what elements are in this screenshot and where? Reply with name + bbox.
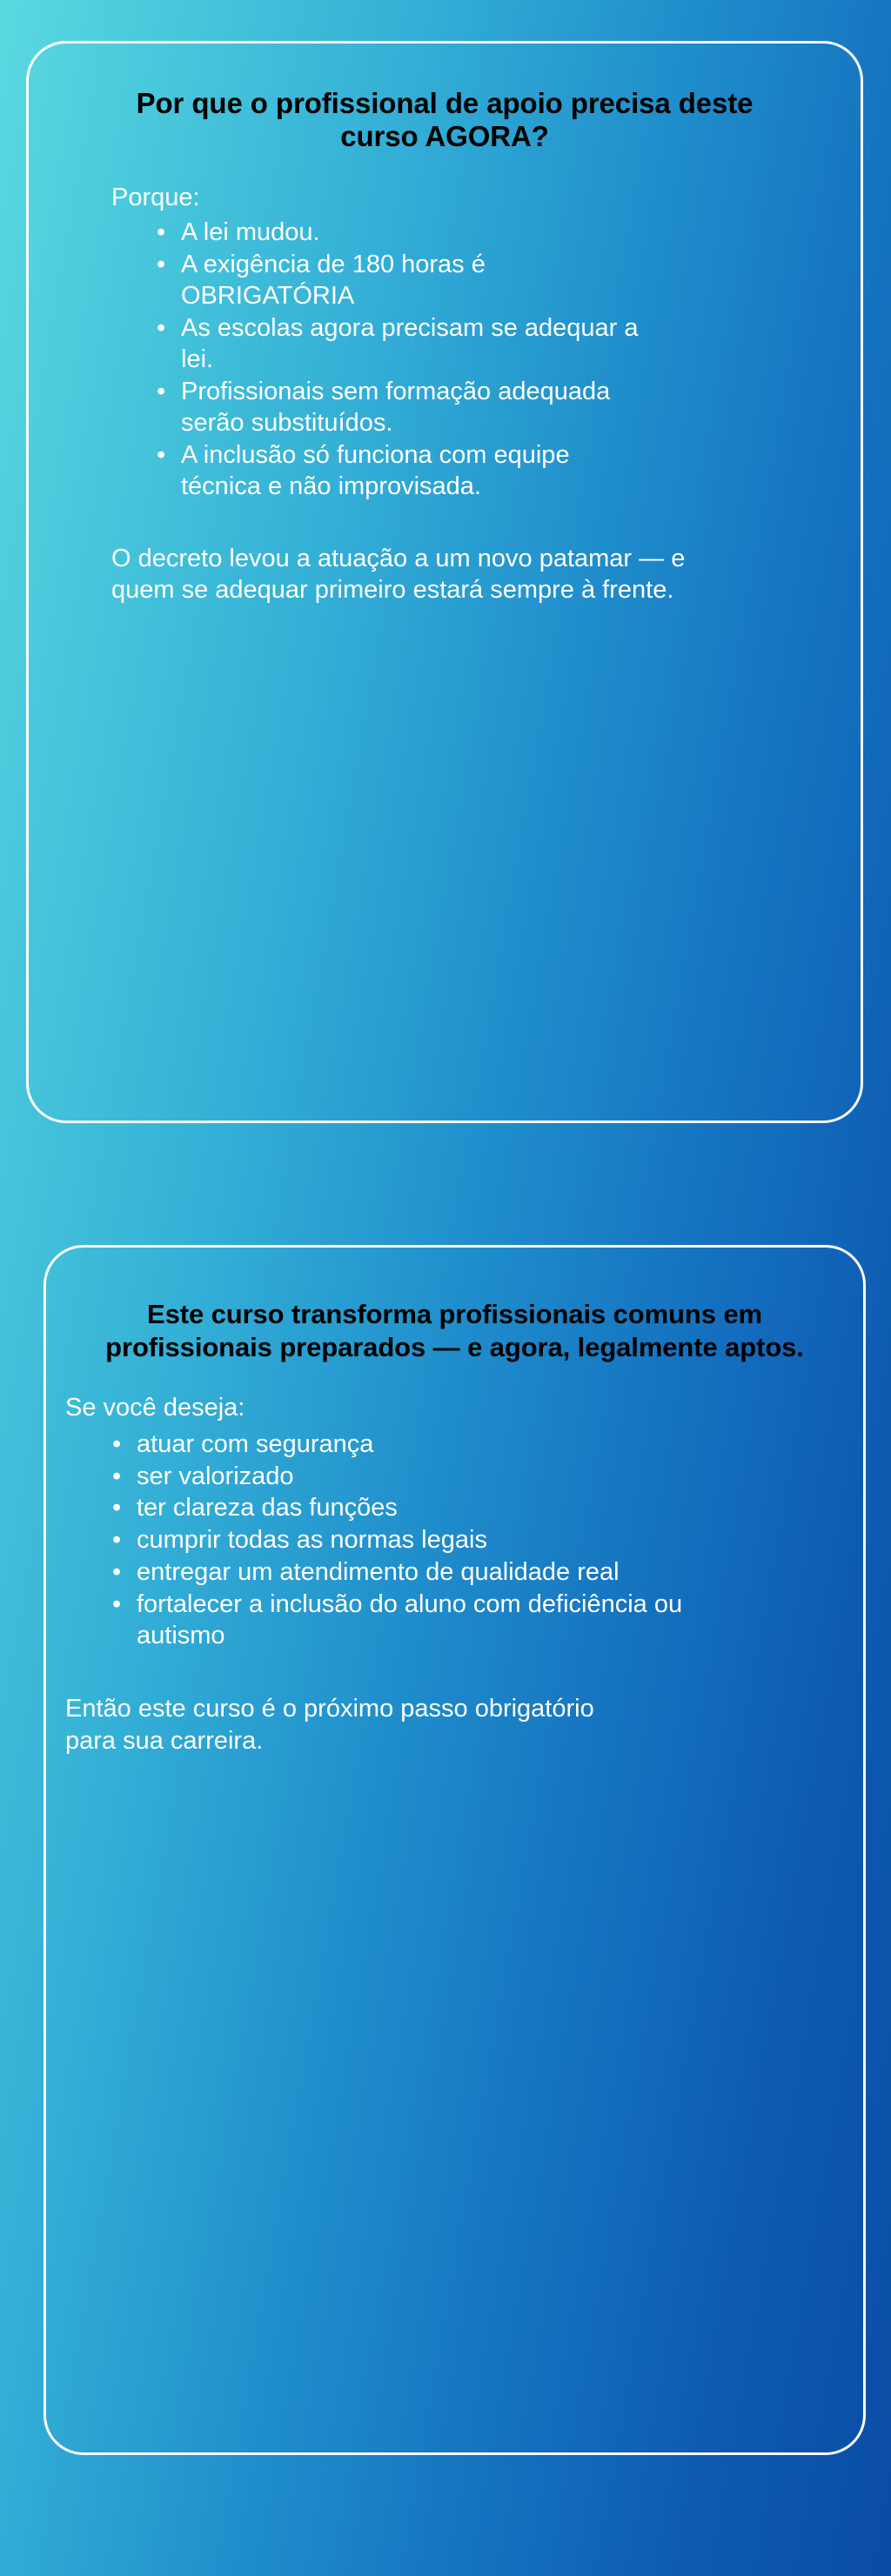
bullet-icon: • <box>112 1493 121 1524</box>
bullet-icon: • <box>112 1557 121 1589</box>
list-item: • As escolas agora precisam se adequar a… <box>153 313 640 376</box>
bullet-icon: • <box>112 1589 121 1621</box>
bullet-icon: • <box>112 1462 121 1493</box>
list-item: • A inclusão só funciona com equipe técn… <box>153 440 640 503</box>
bullet-icon: • <box>157 217 165 249</box>
bullet-icon: • <box>157 440 165 472</box>
list-item: • entregar um atendimento de qualidade r… <box>109 1557 687 1589</box>
bullet-icon: • <box>157 313 165 345</box>
list-item: • cumprir todas as normas legais <box>109 1525 687 1556</box>
list-item-label: atuar com segurança <box>137 1430 373 1458</box>
card-2-closing-text: Então este curso é o próximo passo obrig… <box>65 1693 622 1756</box>
list-item-label: Profissionais sem formação adequada serã… <box>181 378 610 437</box>
card-2-lead: Se você deseja: <box>65 1393 863 1424</box>
list-item-label: A exigência de 180 horas é OBRIGATÓRIA <box>181 251 486 310</box>
list-item-label: cumprir todas as normas legais <box>137 1526 487 1554</box>
list-item-label: entregar um atendimento de qualidade rea… <box>137 1558 620 1586</box>
card-1-title: Por que o profissional de apoio precisa … <box>29 43 861 154</box>
list-item-label: ser valorizado <box>137 1462 294 1490</box>
list-item: • ter clareza das funções <box>109 1493 687 1524</box>
bullet-icon: • <box>112 1525 121 1556</box>
list-item-label: ter clareza das funções <box>137 1494 398 1522</box>
list-item-label: As escolas agora precisam se adequar a l… <box>181 314 639 373</box>
bullet-icon: • <box>157 250 165 281</box>
list-item-label: fortalecer a inclusão do aluno com defic… <box>137 1590 682 1649</box>
card-1-closing-text: O decreto levou a atuação a um novo pata… <box>111 543 712 606</box>
card-2-bullet-list: • atuar com segurança • ser valorizado •… <box>109 1429 863 1653</box>
card-1-bullet-list: • A lei mudou. • A exigência de 180 hora… <box>153 217 861 503</box>
list-item: • ser valorizado <box>109 1462 687 1493</box>
list-item: • atuar com segurança <box>109 1429 687 1461</box>
info-card-why-now: Por que o profissional de apoio precisa … <box>26 41 863 1123</box>
info-card-transformation: Este curso transforma profissionais comu… <box>44 1245 866 2455</box>
list-item: • Profissionais sem formação adequada se… <box>153 377 640 439</box>
card-2-title: Este curso transforma profissionais comu… <box>46 1248 863 1364</box>
bullet-icon: • <box>112 1429 121 1461</box>
list-item-label: A inclusão só funciona com equipe técnic… <box>181 441 570 500</box>
card-1-lead: Porque: <box>111 183 861 214</box>
list-item: • fortalecer a inclusão do aluno com def… <box>109 1589 687 1652</box>
list-item: • A exigência de 180 horas é OBRIGATÓRIA <box>153 250 640 312</box>
list-item: • A lei mudou. <box>153 217 640 249</box>
bullet-icon: • <box>157 377 165 408</box>
list-item-label: A lei mudou. <box>181 218 320 246</box>
